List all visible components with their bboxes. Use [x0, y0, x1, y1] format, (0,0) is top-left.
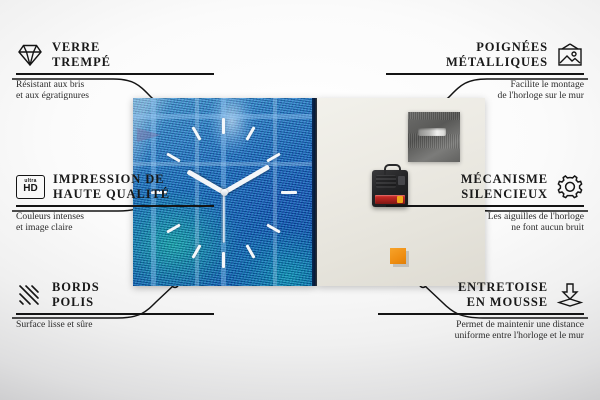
callout-divider — [378, 313, 584, 315]
callout-title: IMPRESSION DE HAUTE QUALITÉ — [53, 172, 170, 201]
ultra-hd-icon: ultra HD — [16, 175, 45, 199]
callout-header: POIGNÉES MÉTALLIQUES — [386, 40, 584, 69]
callout-divider — [386, 73, 584, 75]
print-band — [133, 162, 315, 166]
metal-hanger-plate — [408, 112, 460, 162]
foam-spacer — [390, 248, 406, 264]
callout-divider — [16, 205, 214, 207]
callout-header: VERRE TREMPÉ — [16, 40, 214, 69]
clock-second-hand — [223, 193, 225, 243]
hanger-slot — [418, 128, 446, 136]
print-highlight — [199, 98, 265, 169]
callout-subtitle: Surface lisse et sûre — [16, 319, 214, 331]
callout-header: MÉCANISME SILENCIEUX — [386, 172, 584, 201]
callout-poignees-metalliques: POIGNÉES MÉTALLIQUES Facilite le montage… — [386, 40, 584, 102]
ultra-hd-icon-big-text: HD — [23, 184, 37, 194]
callout-subtitle: Permet de maintenir une distance uniform… — [378, 319, 584, 342]
callout-title: ENTRETOISE EN MOUSSE — [458, 280, 548, 309]
hour-marker — [245, 244, 255, 258]
wall-hanger-icon — [556, 42, 584, 68]
callout-entretoise-en-mousse: ENTRETOISE EN MOUSSE Permet de maintenir… — [378, 280, 584, 342]
callout-header: ENTRETOISE EN MOUSSE — [378, 280, 584, 309]
hour-marker — [222, 118, 225, 134]
callout-header: ultra HD IMPRESSION DE HAUTE QUALITÉ — [16, 172, 214, 201]
polished-edge-icon — [16, 282, 44, 308]
callout-divider — [16, 313, 214, 315]
callout-title: BORDS POLIS — [52, 280, 100, 309]
foam-spacer-icon — [556, 282, 584, 308]
callout-divider — [386, 205, 584, 207]
print-band — [273, 98, 277, 286]
clock-center-cap — [221, 189, 228, 196]
callout-divider — [16, 73, 214, 75]
gear-icon — [556, 174, 584, 200]
callout-title: VERRE TREMPÉ — [52, 40, 111, 69]
diamond-icon — [16, 42, 44, 68]
callout-title: MÉCANISME SILENCIEUX — [461, 172, 548, 201]
hour-marker — [281, 191, 297, 194]
callout-subtitle: Facilite le montage de l'horloge sur le … — [386, 79, 584, 102]
callout-title: POIGNÉES MÉTALLIQUES — [446, 40, 548, 69]
callout-impression-haute-qualite: ultra HD IMPRESSION DE HAUTE QUALITÉ Cou… — [16, 172, 214, 234]
infographic-canvas: VERRE TREMPÉ Résistant aux bris et aux é… — [0, 0, 600, 400]
callout-subtitle: Résistant aux bris et aux égratignures — [16, 79, 214, 102]
callout-subtitle: Couleurs intenses et image claire — [16, 211, 214, 234]
callout-bords-polis: BORDS POLIS Surface lisse et sûre — [16, 280, 214, 330]
callout-verre-trempe: VERRE TREMPÉ Résistant aux bris et aux é… — [16, 40, 214, 102]
hour-marker — [222, 252, 225, 268]
callout-mecanisme-silencieux: MÉCANISME SILENCIEUX Les aiguilles de l'… — [386, 172, 584, 234]
callout-header: BORDS POLIS — [16, 280, 214, 309]
callout-subtitle: Les aiguilles de l'horloge ne font aucun… — [386, 211, 584, 234]
print-accent-triangle — [137, 128, 161, 142]
